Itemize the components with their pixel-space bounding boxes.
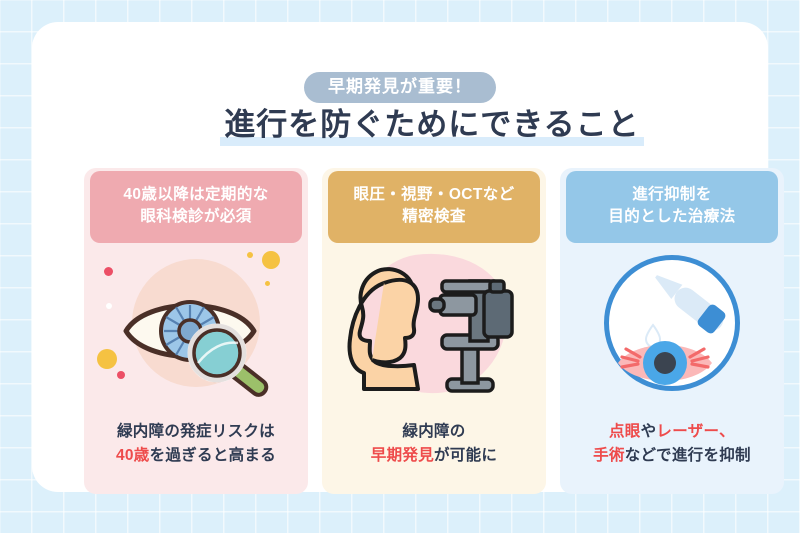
card-2-caption-rest: が可能に <box>434 447 497 464</box>
card-1-caption-line-1: 緑内障の発症リスクは <box>116 420 276 444</box>
card-2-caption-line-1: 緑内障の <box>371 420 497 444</box>
card-2-header-line-2: 精密検査 <box>328 206 540 228</box>
highlight-badge: 早期発見が重要！ <box>304 72 496 103</box>
card-3-header: 進行抑制を 目的とした治療法 <box>566 171 778 243</box>
card-1-caption-rest: を過ぎると高まる <box>150 447 276 464</box>
card-3-caption-highlight-a: 点眼 <box>609 423 641 440</box>
page-title-wrap: 進行を防ぐためにできること <box>32 106 800 147</box>
eye-drop-treatment-icon <box>560 243 784 418</box>
card-1-header-line-2: 眼科検診が必須 <box>90 206 302 228</box>
card-2-artwork <box>322 243 546 418</box>
card-3-caption-line-1-end: 、 <box>719 423 735 440</box>
slit-lamp-examination-icon <box>322 243 546 418</box>
card-1-header-line-1: 40歳以降は定期的な <box>90 184 302 206</box>
card-3-header-line-1: 進行抑制を <box>566 184 778 206</box>
card-3-artwork <box>560 243 784 418</box>
card-3-caption-line-2: 手術などで進行を抑制 <box>593 444 751 468</box>
card-3-caption: 点眼やレーザー、 手術などで進行を抑制 <box>593 420 751 468</box>
infographic-canvas: 早期発見が重要！ 進行を防ぐためにできること 40歳以降は定期的な 眼科検診が必… <box>0 0 800 533</box>
card-2-header-line-1: 眼圧・視野・OCTなど <box>328 184 540 206</box>
card-3-caption-line-1: 点眼やレーザー、 <box>593 420 751 444</box>
card-3-caption-highlight-c: 手術 <box>593 447 625 464</box>
card-1-header: 40歳以降は定期的な 眼科検診が必須 <box>90 171 302 243</box>
card-3-caption-rest: などで進行を抑制 <box>625 447 751 464</box>
card-2-caption: 緑内障の 早期発見が可能に <box>371 420 497 468</box>
card-1-caption-line-2: 40歳を過ぎると高まる <box>116 444 276 468</box>
card-progression-treatment: 進行抑制を 目的とした治療法 <box>560 168 784 494</box>
card-2-header: 眼圧・視野・OCTなど 精密検査 <box>328 171 540 243</box>
card-2-caption-highlight: 早期発見 <box>371 447 434 464</box>
card-detailed-examination: 眼圧・視野・OCTなど 精密検査 <box>322 168 546 494</box>
card-3-caption-mid: や <box>641 423 657 440</box>
card-2-caption-line-2: 早期発見が可能に <box>371 444 497 468</box>
eye-with-magnifier-icon <box>84 243 308 418</box>
card-regular-eye-exam: 40歳以降は定期的な 眼科検診が必須 <box>84 168 308 494</box>
card-1-caption-highlight: 40歳 <box>116 447 150 464</box>
page-title: 進行を防ぐためにできること <box>220 106 643 147</box>
card-3-caption-highlight-b: レーザー <box>656 423 719 440</box>
cards-row: 40歳以降は定期的な 眼科検診が必須 <box>84 168 784 494</box>
content-panel: 早期発見が重要！ 進行を防ぐためにできること 40歳以降は定期的な 眼科検診が必… <box>32 22 768 492</box>
card-1-artwork <box>84 243 308 418</box>
card-3-header-line-2: 目的とした治療法 <box>566 206 778 228</box>
card-1-caption: 緑内障の発症リスクは 40歳を過ぎると高まる <box>116 420 276 468</box>
